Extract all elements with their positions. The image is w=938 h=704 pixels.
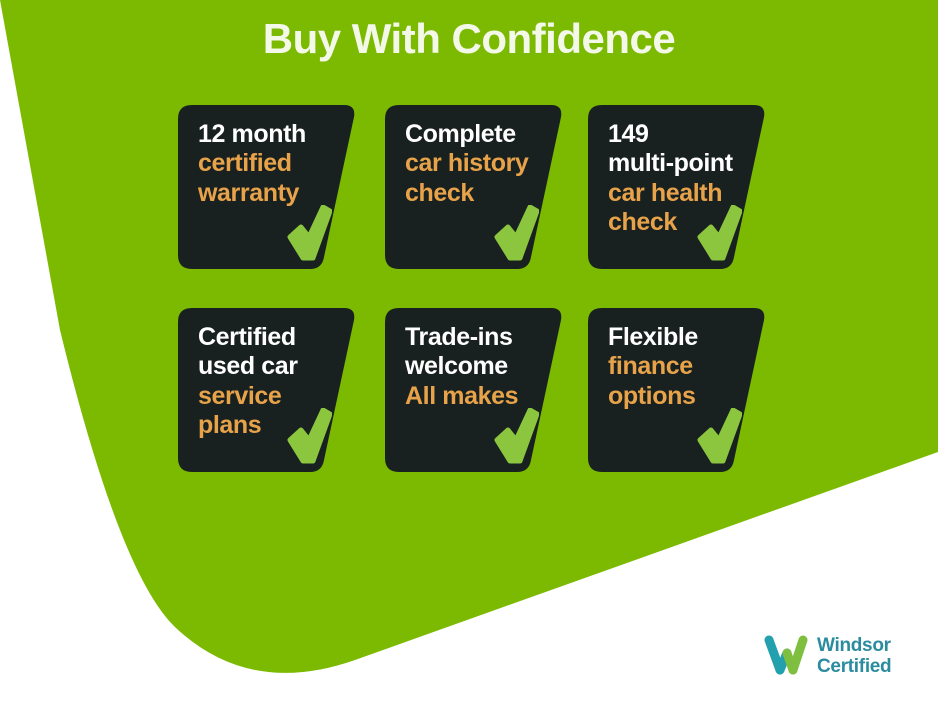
card-line: Flexible (608, 323, 748, 352)
card-trade-ins-welcome-all-makes[interactable]: Trade-ins welcome All makes (385, 308, 563, 472)
card-text: Trade-ins welcome All makes (405, 323, 545, 411)
check-icon (696, 205, 742, 263)
card-line: multi-point (608, 149, 748, 178)
card-line: warranty (198, 179, 338, 208)
card-line: car health (608, 179, 748, 208)
card-149-multi-point-car-health-check[interactable]: 149 multi-point car health check (588, 105, 766, 269)
card-line: finance (608, 352, 748, 381)
card-line: 149 (608, 120, 748, 149)
check-icon (286, 205, 332, 263)
windsor-certified-logo[interactable]: Windsor Certified (763, 628, 923, 684)
card-text: 12 month certified warranty (198, 120, 338, 208)
card-line: Trade-ins (405, 323, 545, 352)
card-line: Certified (198, 323, 338, 352)
card-12-month-certified-warranty[interactable]: 12 month certified warranty (178, 105, 356, 269)
card-text: Flexible finance options (608, 323, 748, 411)
card-line: check (405, 179, 545, 208)
logo-wordmark: Windsor Certified (817, 635, 891, 678)
card-line: car history (405, 149, 545, 178)
windsor-w-icon (763, 634, 809, 678)
card-line: Complete (405, 120, 545, 149)
page-title: Buy With Confidence (0, 17, 938, 61)
check-icon (493, 408, 539, 466)
card-line: service (198, 382, 338, 411)
card-line: welcome (405, 352, 545, 381)
card-line: 12 month (198, 120, 338, 149)
logo-line-2: Certified (817, 656, 891, 677)
card-line: certified (198, 149, 338, 178)
card-flexible-finance-options[interactable]: Flexible finance options (588, 308, 766, 472)
card-line: used car (198, 352, 338, 381)
card-text: Complete car history check (405, 120, 545, 208)
check-icon (493, 205, 539, 263)
poster-canvas: Buy With Confidence 12 month certified w… (0, 0, 938, 704)
card-certified-used-car-service-plans[interactable]: Certified used car service plans (178, 308, 356, 472)
check-icon (286, 408, 332, 466)
card-line: options (608, 382, 748, 411)
logo-line-1: Windsor (817, 635, 891, 656)
check-icon (696, 408, 742, 466)
card-complete-car-history-check[interactable]: Complete car history check (385, 105, 563, 269)
card-line: All makes (405, 382, 545, 411)
